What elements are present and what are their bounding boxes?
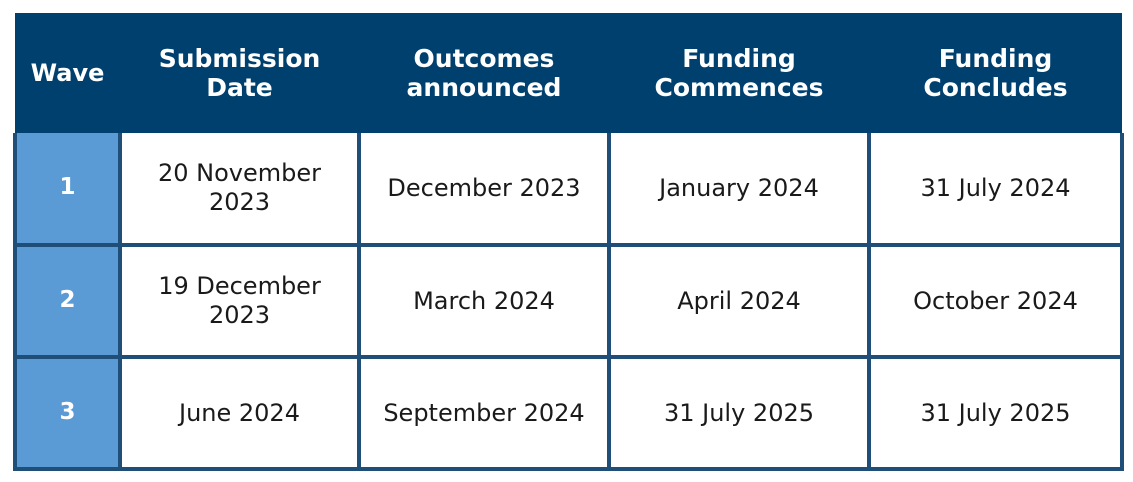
table-body: 1 20 November 2023 December 2023 January…: [15, 133, 1122, 469]
cell-submission-date: June 2024: [120, 357, 359, 469]
funding-schedule-table-wrapper: Wave Submission Date Outcomes announced …: [13, 13, 1120, 470]
table-row: 3 June 2024 September 2024 31 July 2025 …: [15, 357, 1122, 469]
column-header-outcomes-announced-line2: announced: [407, 73, 562, 102]
column-header-funding-commences-line2: Commences: [654, 73, 823, 102]
column-header-funding-commences-line1: Funding: [682, 44, 796, 73]
column-header-submission-date: Submission Date: [120, 13, 359, 133]
cell-funding-commences: 31 July 2025: [609, 357, 869, 469]
column-header-submission-date-line1: Submission: [159, 44, 321, 73]
table-header: Wave Submission Date Outcomes announced …: [15, 13, 1122, 133]
column-header-funding-concludes: Funding Concludes: [869, 13, 1122, 133]
cell-outcomes-announced: December 2023: [359, 133, 609, 245]
column-header-outcomes-announced-line1: Outcomes: [414, 44, 555, 73]
cell-funding-concludes: 31 July 2024: [869, 133, 1122, 245]
cell-submission-date: 19 December 2023: [120, 245, 359, 357]
column-header-funding-concludes-line1: Funding: [939, 44, 1053, 73]
column-header-funding-concludes-line2: Concludes: [923, 73, 1067, 102]
cell-funding-commences: January 2024: [609, 133, 869, 245]
cell-outcomes-announced: March 2024: [359, 245, 609, 357]
table-header-row: Wave Submission Date Outcomes announced …: [15, 13, 1122, 133]
cell-outcomes-announced: September 2024: [359, 357, 609, 469]
cell-wave: 3: [15, 357, 120, 469]
column-header-wave: Wave: [15, 13, 120, 133]
table-row: 1 20 November 2023 December 2023 January…: [15, 133, 1122, 245]
cell-funding-commences: April 2024: [609, 245, 869, 357]
funding-schedule-table: Wave Submission Date Outcomes announced …: [13, 13, 1124, 471]
cell-wave: 1: [15, 133, 120, 245]
cell-funding-concludes: October 2024: [869, 245, 1122, 357]
cell-wave: 2: [15, 245, 120, 357]
column-header-submission-date-line2: Date: [206, 73, 273, 102]
cell-funding-concludes: 31 July 2025: [869, 357, 1122, 469]
column-header-wave-label: Wave: [31, 59, 105, 87]
cell-submission-date: 20 November 2023: [120, 133, 359, 245]
table-row: 2 19 December 2023 March 2024 April 2024…: [15, 245, 1122, 357]
column-header-outcomes-announced: Outcomes announced: [359, 13, 609, 133]
column-header-funding-commences: Funding Commences: [609, 13, 869, 133]
